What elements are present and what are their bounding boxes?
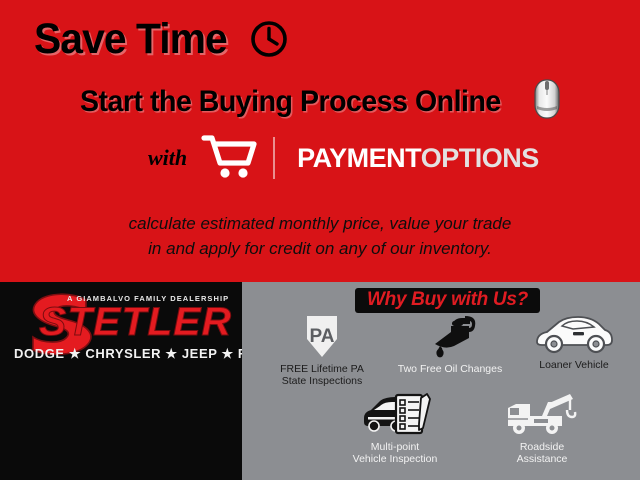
feature-caption: Multi-point Vehicle Inspection — [353, 441, 438, 466]
feature-caption-line-2: Vehicle Inspection — [353, 453, 438, 465]
payment-options-logo: PAYMENTOPTIONS — [201, 134, 539, 182]
oil-can-icon — [421, 312, 479, 360]
feature-caption-line-1: Loaner Vehicle — [539, 359, 608, 371]
payment-options-wordmark: PAYMENTOPTIONS — [297, 143, 539, 174]
svg-text:PA: PA — [310, 326, 335, 347]
hero-body-line-2: in and apply for credit on any of our in… — [0, 237, 640, 262]
feature-caption: FREE Lifetime PA State Inspections — [280, 363, 364, 388]
hero-body-copy: calculate estimated monthly price, value… — [0, 212, 640, 261]
feature-caption: Two Free Oil Changes — [398, 363, 502, 375]
hero-headline-2: Start the Buying Process Online — [80, 78, 561, 125]
feature-caption-line-2: Assistance — [517, 453, 568, 465]
feature-multipoint-inspection: Multi-point Vehicle Inspection — [320, 390, 470, 466]
shopping-cart-icon — [201, 132, 257, 185]
pa-keystone-icon: PA — [299, 312, 345, 360]
inspection-checklist-icon — [358, 390, 432, 438]
feature-caption-line-1: Roadside — [517, 441, 568, 453]
dealer-name: STETLER — [39, 302, 232, 342]
why-buy-heading-banner: Why Buy with Us? — [355, 288, 540, 313]
feature-caption-line-1: FREE Lifetime PA — [280, 363, 364, 375]
hero-panel: Save Time Start the Buying Process Onlin… — [0, 0, 640, 282]
stetler-logo: A GIAMBALVO FAMILY DEALERSHIP STETLER DO… — [0, 288, 242, 362]
payment-options-logo-row: with PAYMENTOPTIONS — [148, 134, 539, 182]
feature-roadside-assistance: Roadside Assistance — [478, 390, 606, 466]
feature-caption: Roadside Assistance — [517, 441, 568, 466]
hero-headline-1: Save Time — [34, 15, 289, 64]
dealership-ad-banner: Save Time Start the Buying Process Onlin… — [0, 0, 640, 480]
feature-caption-line-1: Multi-point — [353, 441, 438, 453]
logo-divider — [273, 137, 275, 179]
dealer-brands: DODGE ★ CHRYSLER ★ JEEP ★ RAM — [14, 346, 228, 362]
feature-caption-line-2: State Inspections — [280, 375, 364, 387]
computer-mouse-icon — [533, 76, 561, 125]
hero-headline-2-text: Start the Buying Process Online — [80, 87, 501, 117]
hero-body-line-1: calculate estimated monthly price, value… — [0, 212, 640, 237]
feature-free-oil-changes: Two Free Oil Changes — [382, 312, 518, 375]
why-buy-heading: Why Buy with Us? — [367, 289, 528, 310]
options-word: OPTIONS — [421, 143, 539, 173]
tow-truck-icon — [504, 390, 580, 438]
feature-caption-line-1: Two Free Oil Changes — [398, 363, 502, 375]
feature-pa-inspections: PA FREE Lifetime PA State Inspections — [258, 312, 386, 388]
payment-word: PAYMENT — [297, 143, 421, 173]
hero-headline-1-text: Save Time — [34, 18, 227, 61]
car-icon — [533, 312, 615, 356]
feature-loaner-vehicle: Loaner Vehicle — [512, 312, 636, 371]
dealer-info-panel: A GIAMBALVO FAMILY DEALERSHIP STETLER DO… — [0, 282, 242, 480]
why-buy-panel: Why Buy with Us? PA FREE Lifetime PA Sta… — [242, 282, 640, 480]
feature-caption: Loaner Vehicle — [539, 359, 608, 371]
with-label: with — [148, 145, 187, 171]
clock-icon — [249, 19, 289, 64]
